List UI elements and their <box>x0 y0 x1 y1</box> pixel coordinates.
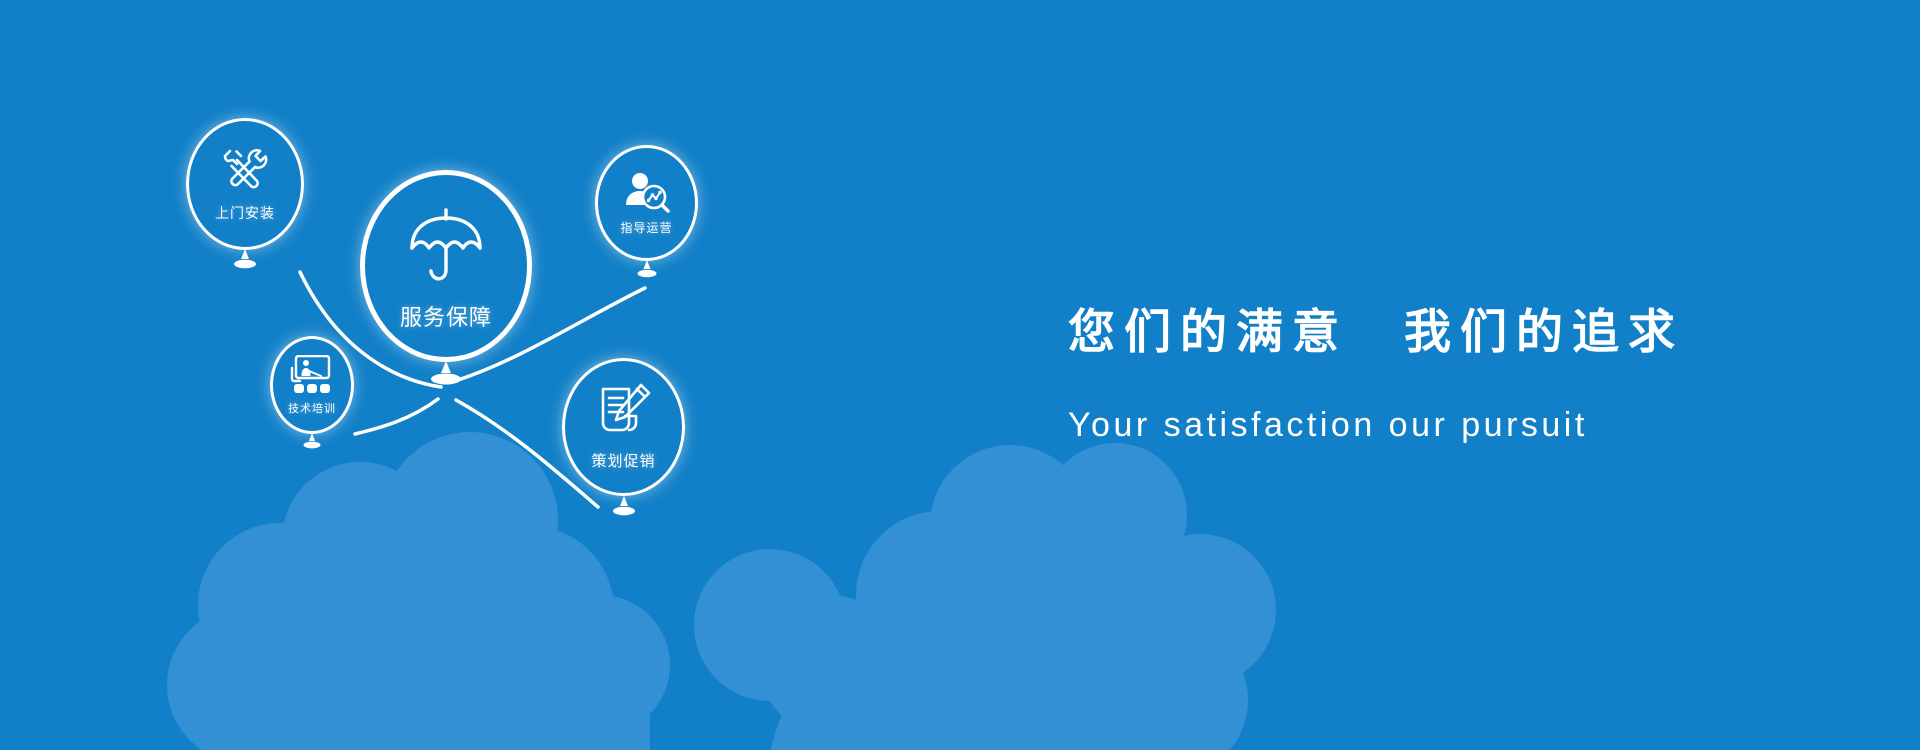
hammer-wrench-icon <box>219 145 271 195</box>
service-diagram: 服务保障 上门安装 <box>0 0 1100 750</box>
node-label: 服务保障 <box>400 300 492 332</box>
node-operation-guidance[interactable]: 指导运营 <box>595 145 698 261</box>
connector-to-training <box>355 399 438 434</box>
whiteboard-training-icon <box>290 355 334 395</box>
node-label: 上门安装 <box>215 203 275 223</box>
node-onsite-installation[interactable]: 上门安装 <box>186 118 304 250</box>
node-technical-training[interactable]: 技术培训 <box>270 336 354 434</box>
node-label: 策划促销 <box>591 450 655 471</box>
user-analytics-icon <box>624 171 670 213</box>
service-banner: 服务保障 上门安装 <box>0 0 1920 750</box>
node-pin <box>228 249 262 271</box>
node-pin <box>424 361 468 387</box>
document-pencil-icon <box>595 383 653 441</box>
banner-copy: 您们的满意 我们的追求 Your satisfaction our pursui… <box>1068 0 1684 750</box>
headline: 您们的满意 我们的追求 <box>1068 305 1684 359</box>
node-label: 技术培训 <box>288 400 336 416</box>
node-pin <box>299 433 326 451</box>
node-service-guarantee[interactable]: 服务保障 <box>360 170 532 362</box>
node-pin <box>632 260 662 280</box>
subhead: Your satisfaction our pursuit <box>1068 406 1588 445</box>
umbrella-icon <box>407 204 485 286</box>
connector-lines <box>0 0 1100 750</box>
node-pin <box>607 496 641 518</box>
node-promotion-planning[interactable]: 策划促销 <box>562 358 685 496</box>
node-label: 指导运营 <box>620 219 672 236</box>
